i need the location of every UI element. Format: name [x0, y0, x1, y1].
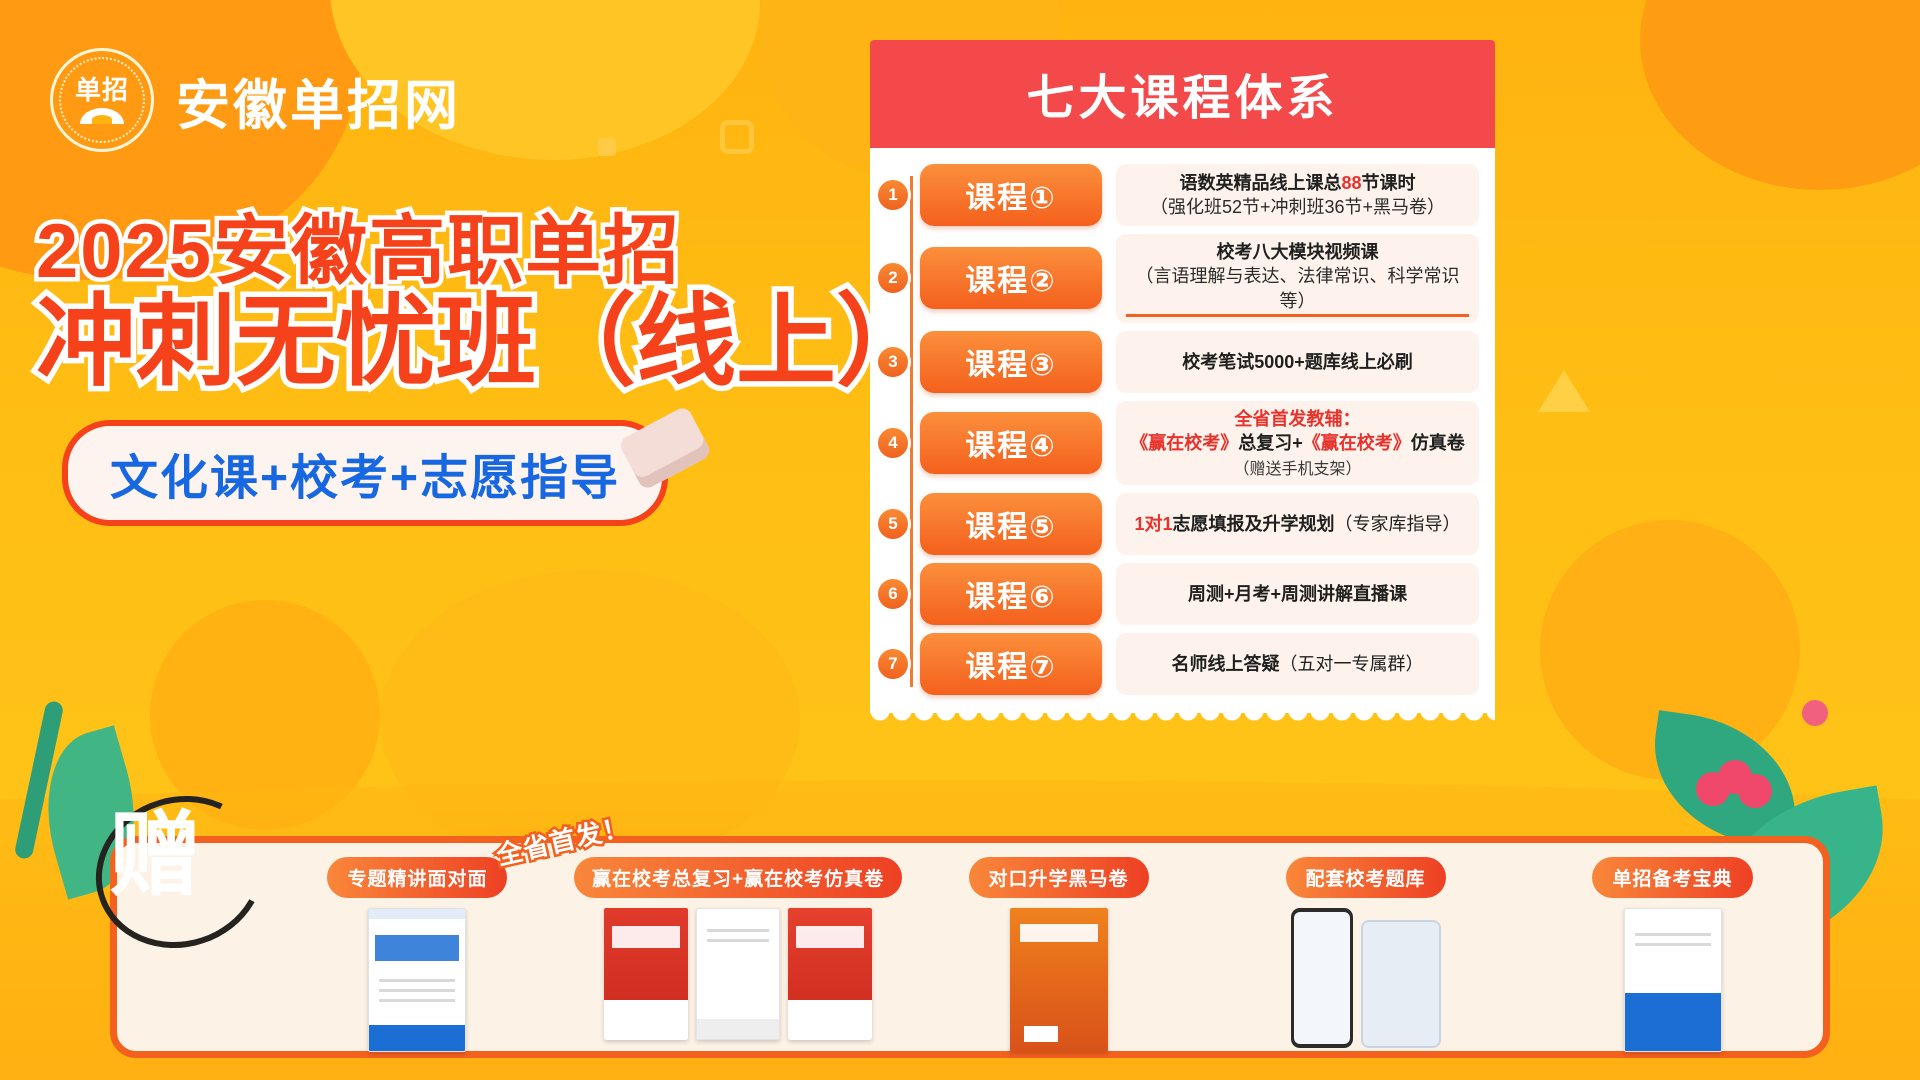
gift-item[interactable]: 赢在校考总复习+赢在校考仿真卷: [574, 857, 902, 1052]
gift-item[interactable]: 配套校考题库: [1215, 857, 1516, 1052]
logo-wordmark: 安徽单招网: [176, 61, 461, 140]
course-desc-note: （五对一专属群）: [1280, 654, 1424, 674]
gift-item[interactable]: 专题精讲面对面: [267, 857, 568, 1052]
course-description: 名师线上答疑（五对一专属群）: [1116, 633, 1479, 695]
course-description: 1对1志愿填报及升学规划（专家库指导）: [1116, 493, 1479, 555]
course-panel-title: 七大课程体系: [870, 40, 1495, 148]
gift-item-images: [604, 908, 872, 1040]
subtitle-pill-text: 文化课+校考+志愿指导: [110, 438, 620, 508]
headline-block: 2025安徽高职单招 冲刺无忧班（线上） 文化课+校考+志愿指导: [36, 212, 936, 526]
phone-mockup-image: [1291, 908, 1353, 1048]
gift-item[interactable]: 单招备考宝典: [1522, 857, 1823, 1052]
gift-item-label: 专题精讲面对面: [327, 857, 507, 898]
course-panel-body: 1 课程① 语数英精品线上课总88节课时 （强化班52节+冲刺班36节+黑马卷）…: [870, 148, 1495, 713]
book-cover-image: [604, 908, 688, 1040]
course-description: 校考八大模块视频课 （言语理解与表达、法律常识、科学常识等）: [1116, 234, 1479, 323]
decor-square-small: [598, 138, 616, 156]
course-description: 全省首发教辅： 《赢在校考》总复习+《赢在校考》仿真卷 （赠送手机支架）: [1116, 401, 1479, 486]
book-cover-image: [368, 908, 466, 1052]
gift-item-images: [368, 908, 466, 1052]
decor-square-outline: [720, 120, 754, 154]
course-desc-sub: （强化班52节+冲刺班36节+黑马卷）: [1150, 195, 1445, 219]
course-button[interactable]: 课程②: [920, 247, 1102, 309]
course-button[interactable]: 课程③: [920, 331, 1102, 393]
decor-flower: [1718, 760, 1752, 794]
course-desc-sub: （赠送手机支架）: [1233, 455, 1361, 479]
logo-fan-icon: [80, 108, 124, 124]
course-button[interactable]: 课程⑦: [920, 633, 1102, 695]
logo-mark-text: 单招: [75, 77, 129, 103]
logo-inner-ring: 单招: [59, 57, 145, 143]
gift-item-label: 单招备考宝典: [1592, 857, 1752, 898]
course-row[interactable]: 2 课程② 校考八大模块视频课 （言语理解与表达、法律常识、科学常识等）: [886, 234, 1479, 323]
tablet-mockup-image: [1361, 920, 1441, 1048]
headline-line-2: 冲刺无忧班（线上）: [36, 288, 936, 396]
course-description: 周测+月考+周测讲解直播课: [1116, 563, 1479, 625]
course-book-title-1: 《赢在校考》: [1130, 433, 1238, 453]
course-step-number: 6: [878, 579, 908, 609]
site-logo: 单招 安徽单招网: [50, 48, 461, 152]
course-desc-sub: （言语理解与表达、法律常识、科学常识等）: [1126, 264, 1469, 317]
book-cover-image: [788, 908, 872, 1040]
course-desc-main: 语数英精品线上课总88节课时: [1179, 171, 1415, 195]
gift-item-label: 配套校考题库: [1286, 857, 1446, 898]
course-step-number: 7: [878, 649, 908, 679]
course-desc-highlight: 1对1: [1134, 514, 1172, 534]
course-row[interactable]: 6 课程⑥ 周测+月考+周测讲解直播课: [886, 563, 1479, 625]
gift-item-images: [1291, 908, 1441, 1048]
course-book-title-2: 《赢在校考》: [1303, 433, 1411, 453]
course-description: 校考笔试5000+题库线上必刷: [1116, 331, 1479, 393]
course-description: 语数英精品线上课总88节课时 （强化班52节+冲刺班36节+黑马卷）: [1116, 164, 1479, 226]
course-desc-main: 周测+月考+周测讲解直播课: [1188, 582, 1407, 606]
course-row[interactable]: 7 课程⑦ 名师线上答疑（五对一专属群）: [886, 633, 1479, 695]
course-button[interactable]: 课程⑤: [920, 493, 1102, 555]
course-desc-highlight: 88: [1341, 173, 1361, 193]
decor-triangle: [1538, 370, 1590, 412]
decor-flower-small: [1802, 700, 1828, 726]
course-row[interactable]: 3 课程③ 校考笔试5000+题库线上必刷: [886, 331, 1479, 393]
book-cover-image: [696, 908, 780, 1040]
gift-item-label: 对口升学黑马卷: [969, 857, 1149, 898]
course-row[interactable]: 5 课程⑤ 1对1志愿填报及升学规划（专家库指导）: [886, 493, 1479, 555]
course-desc-main: 名师线上答疑（五对一专属群）: [1172, 652, 1424, 676]
course-button[interactable]: 课程⑥: [920, 563, 1102, 625]
course-desc-main: 校考笔试5000+题库线上必刷: [1182, 350, 1413, 374]
course-row[interactable]: 1 课程① 语数英精品线上课总88节课时 （强化班52节+冲刺班36节+黑马卷）: [886, 164, 1479, 226]
gift-word-label: 赠: [109, 781, 203, 914]
gift-item-images: [1624, 908, 1722, 1052]
gift-item[interactable]: 对口升学黑马卷: [908, 857, 1209, 1052]
course-button[interactable]: 课程①: [920, 164, 1102, 226]
course-desc-lead: 全省首发教辅：: [1235, 407, 1361, 431]
headline-line-1: 2025安徽高职单招: [36, 212, 936, 292]
gift-item-images: [1010, 908, 1108, 1052]
course-desc-main: 校考八大模块视频课: [1217, 240, 1379, 264]
eraser-icon: [617, 405, 712, 491]
course-row[interactable]: 4 课程④ 全省首发教辅： 《赢在校考》总复习+《赢在校考》仿真卷 （赠送手机支…: [886, 401, 1479, 486]
course-desc-note: （专家库指导）: [1335, 514, 1461, 534]
bg-blob-top-right: [1640, 0, 1920, 190]
logo-badge-icon: 单招: [50, 48, 154, 152]
gift-item-list: 专题精讲面对面 赢在校考总复习+赢在校考仿真卷: [267, 843, 1823, 1052]
course-desc-main: 《赢在校考》总复习+《赢在校考》仿真卷: [1130, 431, 1465, 455]
gift-bonus-bar: 赠 全省首发！ 专题精讲面对面 赢在校考总复习+赢在校考仿真卷: [110, 836, 1830, 1058]
course-step-number: 1: [878, 180, 908, 210]
book-cover-image: [1010, 908, 1108, 1052]
course-system-panel: 七大课程体系 1 课程① 语数英精品线上课总88节课时 （强化班52节+冲刺班3…: [870, 40, 1495, 713]
course-button[interactable]: 课程④: [920, 412, 1102, 474]
course-desc-main: 1对1志愿填报及升学规划（专家库指导）: [1134, 512, 1460, 536]
book-cover-image: [1624, 908, 1722, 1052]
subtitle-pill: 文化课+校考+志愿指导: [62, 420, 668, 526]
gift-item-label: 赢在校考总复习+赢在校考仿真卷: [574, 857, 902, 898]
